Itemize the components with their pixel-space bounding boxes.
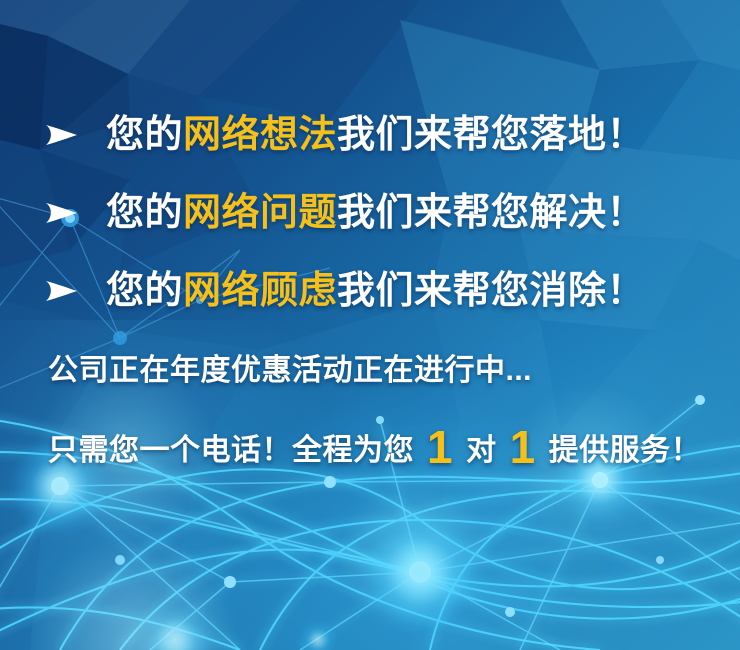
headline-3-prefix: 您的 xyxy=(106,270,183,312)
arrow-right-icon xyxy=(44,202,88,224)
headline-2-prefix: 您的 xyxy=(106,192,183,234)
banner-content: 您的网络想法我们来帮您落地！ 您的网络问题我们来帮您解决！ 您的网络顾虑我们来帮… xyxy=(0,0,740,650)
headline-3-highlight: 网络顾虑 xyxy=(183,270,337,312)
arrow-right-icon xyxy=(44,124,88,146)
service-line-part1: 只需您一个电话！全程为您 xyxy=(48,434,414,467)
headline-3-suffix: 我们来帮您消除！ xyxy=(337,270,645,312)
headline-1-prefix: 您的 xyxy=(106,114,183,156)
subtext-block: 公司正在年度优惠活动正在进行中... 只需您一个电话！全程为您1对1提供服务！ xyxy=(48,356,740,470)
service-line-mid: 对 xyxy=(466,434,497,467)
service-number-first: 1 xyxy=(423,421,457,473)
arrow-right-icon xyxy=(44,280,88,302)
promo-activity-line: 公司正在年度优惠活动正在进行中... xyxy=(48,356,740,386)
headline-2-highlight: 网络问题 xyxy=(183,192,337,234)
one-on-one-service-line: 只需您一个电话！全程为您1对1提供服务！ xyxy=(48,424,740,470)
headline-1-suffix: 我们来帮您落地！ xyxy=(337,114,645,156)
headline-list: 您的网络想法我们来帮您落地！ 您的网络问题我们来帮您解决！ 您的网络顾虑我们来帮… xyxy=(0,96,740,330)
headline-row-2: 您的网络问题我们来帮您解决！ xyxy=(0,174,740,252)
headline-1-highlight: 网络想法 xyxy=(183,114,337,156)
headline-2-suffix: 我们来帮您解决！ xyxy=(337,192,645,234)
service-line-part2: 提供服务！ xyxy=(549,434,702,467)
promo-banner: 您的网络想法我们来帮您落地！ 您的网络问题我们来帮您解决！ 您的网络顾虑我们来帮… xyxy=(0,0,740,650)
service-number-second: 1 xyxy=(506,421,540,473)
headline-text-3: 您的网络顾虑我们来帮您消除！ xyxy=(106,272,645,310)
headline-row-1: 您的网络想法我们来帮您落地！ xyxy=(0,96,740,174)
headline-text-1: 您的网络想法我们来帮您落地！ xyxy=(106,116,645,154)
headline-row-3: 您的网络顾虑我们来帮您消除！ xyxy=(0,252,740,330)
headline-text-2: 您的网络问题我们来帮您解决！ xyxy=(106,194,645,232)
